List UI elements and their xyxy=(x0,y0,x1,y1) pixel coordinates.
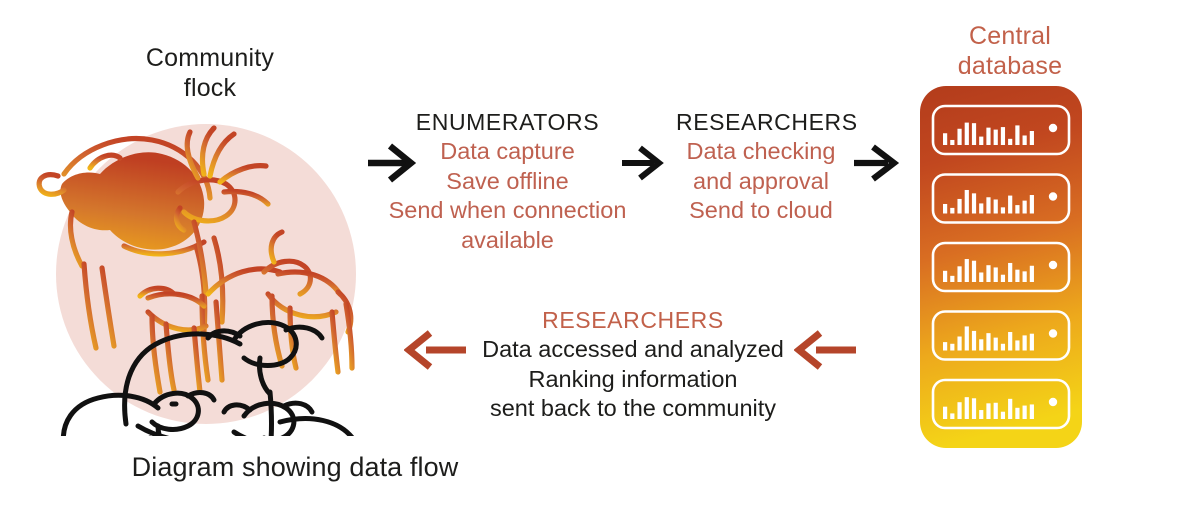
server-slot-bar xyxy=(957,402,961,419)
server-slot-bar xyxy=(1001,275,1005,282)
server-slot-bar xyxy=(950,344,954,351)
flow-line: Data checking xyxy=(676,137,846,167)
flow-step-enumerators-body: Data capture Save offline Send when conn… xyxy=(385,137,630,255)
central-database-server-illustration xyxy=(918,84,1084,455)
server-slot-bar xyxy=(943,407,947,419)
server-slot-bar xyxy=(1030,266,1034,282)
server-slot-bar xyxy=(965,326,969,350)
server-slot-bar xyxy=(1030,195,1034,213)
sheep-r-wool xyxy=(234,432,272,436)
community-flock-illustration xyxy=(28,96,388,441)
server-slot-bar xyxy=(1008,139,1012,145)
server-slot-bar xyxy=(986,403,990,419)
flow-line: and approval xyxy=(676,167,846,197)
server-slot-bar xyxy=(965,397,969,419)
arrow-database-to-researchers xyxy=(794,328,860,377)
diagram-canvas: Community flock ENUMERATORS Data capture… xyxy=(0,0,1200,515)
server-slot-bar xyxy=(1023,201,1027,214)
server-slot-bar xyxy=(957,266,961,282)
server-slot-bar xyxy=(972,193,976,213)
server-slot-bar xyxy=(1015,205,1019,213)
server-slot-bar xyxy=(965,190,969,214)
server-slot-indicator-dot xyxy=(1049,398,1057,406)
server-slot-bar xyxy=(943,133,947,145)
server-slot-bar xyxy=(965,259,969,282)
server-slot-bar xyxy=(979,203,983,213)
server-slot-bar xyxy=(979,137,983,145)
flow-line: Save offline xyxy=(385,167,630,197)
server-slot-bar xyxy=(972,123,976,145)
community-flock-label: Community flock xyxy=(110,44,310,103)
server-slot-bar xyxy=(979,272,983,282)
server-slot-bar xyxy=(943,342,947,350)
server-slot-bar xyxy=(950,413,954,419)
flow-line: Data capture xyxy=(385,137,630,167)
community-flock-label-line1: Community xyxy=(110,44,310,74)
flow-line: sent back to the community xyxy=(478,394,788,424)
flow-step-enumerators: ENUMERATORS Data capture Save offline Se… xyxy=(385,108,630,255)
flow-step-researchers-feedback: RESEARCHERS Data accessed and analyzed R… xyxy=(478,306,788,424)
server-slot-bar xyxy=(1023,335,1027,350)
server-slot-bar xyxy=(965,123,969,145)
server-slot-bar xyxy=(994,403,998,419)
server-slot-bar xyxy=(1001,344,1005,351)
server-slot-indicator-dot xyxy=(1049,124,1057,132)
flow-step-researchers-upload-body: Data checking and approval Send to cloud xyxy=(676,137,846,226)
server-slot-bar xyxy=(1001,127,1005,145)
server-slot-bar xyxy=(1030,131,1034,145)
flow-line: Data accessed and analyzed xyxy=(478,335,788,365)
community-flock-label-line2: flock xyxy=(110,74,310,104)
server-slot-bar xyxy=(972,331,976,351)
server-slot-bar xyxy=(986,265,990,282)
server-slot-bar xyxy=(994,338,998,351)
server-slot-bar xyxy=(986,197,990,213)
server-slot-bar xyxy=(994,130,998,145)
flow-step-enumerators-heading: ENUMERATORS xyxy=(385,108,630,137)
server-slot-bar xyxy=(1015,408,1019,419)
flow-line: Send when connection xyxy=(385,196,630,226)
server-slot-bar xyxy=(950,208,954,214)
server-slot-bar xyxy=(957,199,961,214)
server-slot-bar xyxy=(957,337,961,351)
diagram-caption: Diagram showing data flow xyxy=(60,452,530,483)
server-slot-bar xyxy=(979,410,983,419)
server-slot-bar xyxy=(1008,196,1012,214)
central-database-label-line2: database xyxy=(930,52,1090,82)
server-slot-bar xyxy=(943,271,947,282)
server-slot-bar xyxy=(1001,412,1005,419)
server-slot-bar xyxy=(979,339,983,350)
server-slot-bar xyxy=(1015,340,1019,350)
sheep-big-neck xyxy=(270,392,272,436)
flow-line: Send to cloud xyxy=(676,196,846,226)
central-database-label: Central database xyxy=(930,22,1090,81)
arrow-researchers-to-flock xyxy=(404,328,470,377)
server-slot-bar xyxy=(972,261,976,282)
server-slot-bar xyxy=(1015,270,1019,282)
flow-step-researchers-feedback-heading: RESEARCHERS xyxy=(478,306,788,335)
flow-step-researchers-feedback-body: Data accessed and analyzed Ranking infor… xyxy=(478,335,788,424)
server-slot-bar xyxy=(972,398,976,419)
server-slot-indicator-dot xyxy=(1049,261,1057,269)
server-slot-bar xyxy=(1023,271,1027,282)
goat-a-horn xyxy=(39,175,64,195)
central-database-label-line1: Central xyxy=(930,22,1090,52)
server-slot-bar xyxy=(994,200,998,214)
server-slot-bar xyxy=(1023,135,1027,145)
arrow-enumerators-to-researchers xyxy=(620,144,664,187)
server-slot-bar xyxy=(957,129,961,145)
server-slot-indicator-dot xyxy=(1049,192,1057,200)
server-slot-bar xyxy=(1030,404,1034,419)
server-slot-bar xyxy=(1008,263,1012,282)
flow-step-researchers-upload-heading: RESEARCHERS xyxy=(676,108,846,137)
arrow-researchers-to-database xyxy=(852,143,900,188)
flow-line: Ranking information xyxy=(478,365,788,395)
server-slot-bar xyxy=(1001,207,1005,213)
server-slot-bar xyxy=(950,140,954,145)
server-slot-bar xyxy=(1023,406,1027,419)
server-slot-bar xyxy=(1030,334,1034,351)
server-slot-indicator-dot xyxy=(1049,329,1057,337)
server-slot-bar xyxy=(986,128,990,145)
server-slot-bar xyxy=(1008,399,1012,419)
flow-step-researchers-upload: RESEARCHERS Data checking and approval S… xyxy=(676,108,846,226)
server-slot-bar xyxy=(986,333,990,350)
server-slot-bar xyxy=(943,204,947,214)
flow-line: available xyxy=(385,226,630,256)
server-slot-bar xyxy=(994,267,998,282)
server-slot-bar xyxy=(1008,332,1012,350)
server-slot-bar xyxy=(1015,125,1019,145)
server-slot-bar xyxy=(950,276,954,282)
